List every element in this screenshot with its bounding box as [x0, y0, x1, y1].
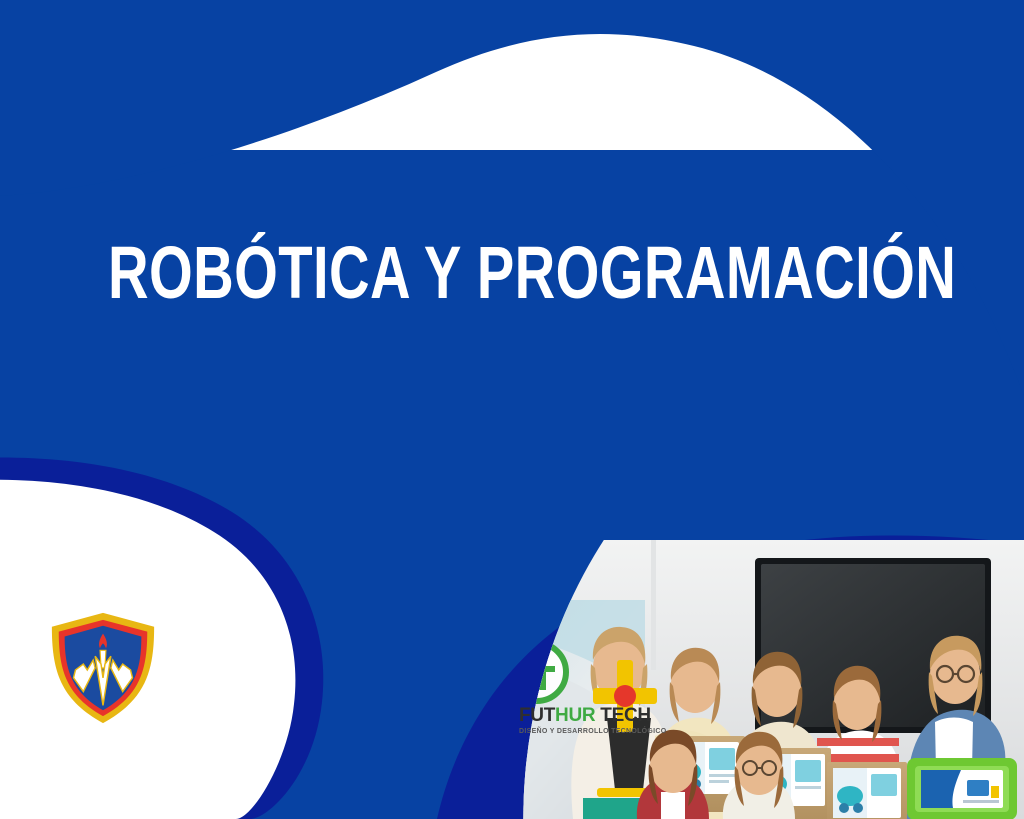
green-kit-tray [907, 758, 1017, 819]
title-block: ROBÓTICA Y PROGRAMACIÓN [108, 228, 928, 318]
robotics-kit-box-3 [827, 762, 907, 819]
futhur-tech-logo-icon [505, 640, 569, 704]
poster-canvas: ROBÓTICA Y PROGRAMACIÓN [0, 0, 1024, 819]
shield-icon [44, 609, 162, 727]
school-crest-logo [44, 609, 162, 727]
page-title: ROBÓTICA Y PROGRAMACIÓN [108, 236, 956, 310]
group-photo-frame [455, 540, 1024, 819]
group-photo [455, 540, 1024, 819]
group-photo-illustration [455, 540, 1024, 819]
